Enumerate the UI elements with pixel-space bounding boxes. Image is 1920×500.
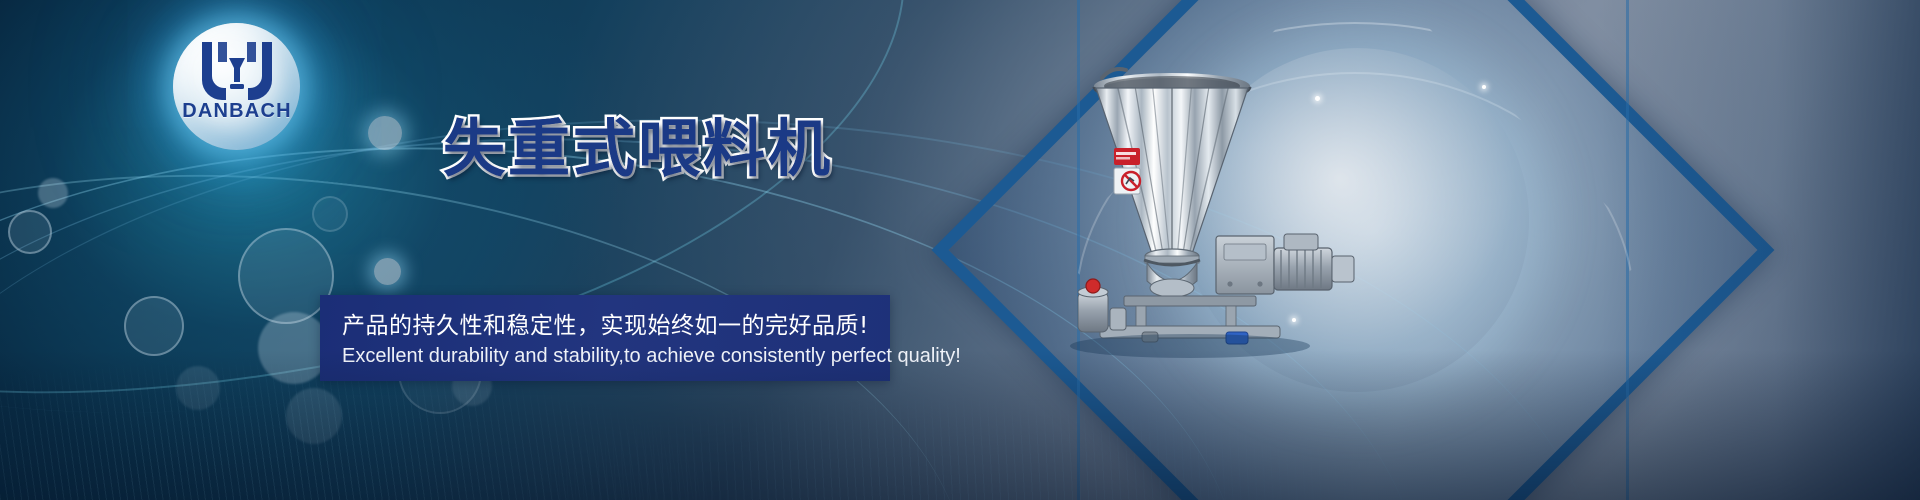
streak-arc-top-2 <box>0 0 1026 500</box>
streak-arc-top-1 <box>0 0 964 500</box>
product-hero-banner: DANBACH 失重式喂料机 失重式喂料机 产品的持久性和稳定性，实现始终如一的… <box>0 0 1920 500</box>
bubble <box>374 258 401 285</box>
bubble <box>38 178 68 208</box>
danbach-wordmark: DANBACH <box>176 100 298 123</box>
bubble <box>312 196 348 232</box>
loss-in-weight-feeder-image <box>1040 40 1370 370</box>
bubble <box>368 116 402 150</box>
bubble <box>124 296 184 356</box>
bubble <box>176 366 220 410</box>
slogan-english: Excellent durability and stability,to ac… <box>342 345 961 368</box>
danbach-mark-icon <box>196 40 278 102</box>
warning-sticker <box>1114 148 1140 165</box>
page-title: 失重式喂料机 <box>443 118 833 180</box>
bubble <box>286 388 342 444</box>
red-button <box>1086 279 1100 293</box>
bubble <box>8 210 52 254</box>
slogan-chinese: 产品的持久性和稳定性，实现始终如一的完好品质! <box>342 306 869 340</box>
sparkle-icon <box>1482 85 1486 89</box>
